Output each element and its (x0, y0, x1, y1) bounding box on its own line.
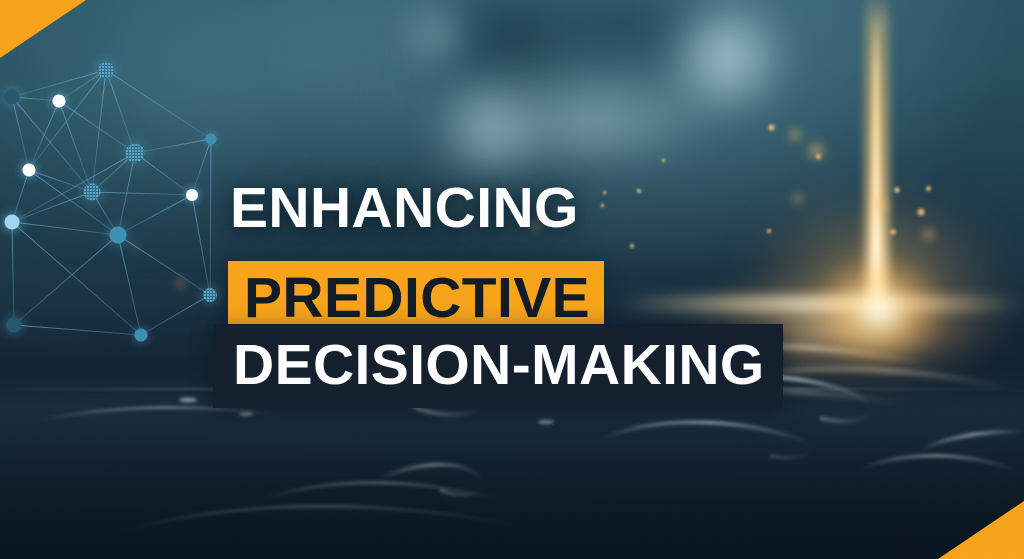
headline-group: ENHANCING PREDICTIVE DECISION-MAKING (0, 0, 1024, 559)
headline-line-1: ENHANCING (230, 180, 579, 237)
headline-line-3-block: DECISION-MAKING (213, 324, 783, 408)
hero-banner: ENHANCING PREDICTIVE DECISION-MAKING (0, 0, 1024, 559)
